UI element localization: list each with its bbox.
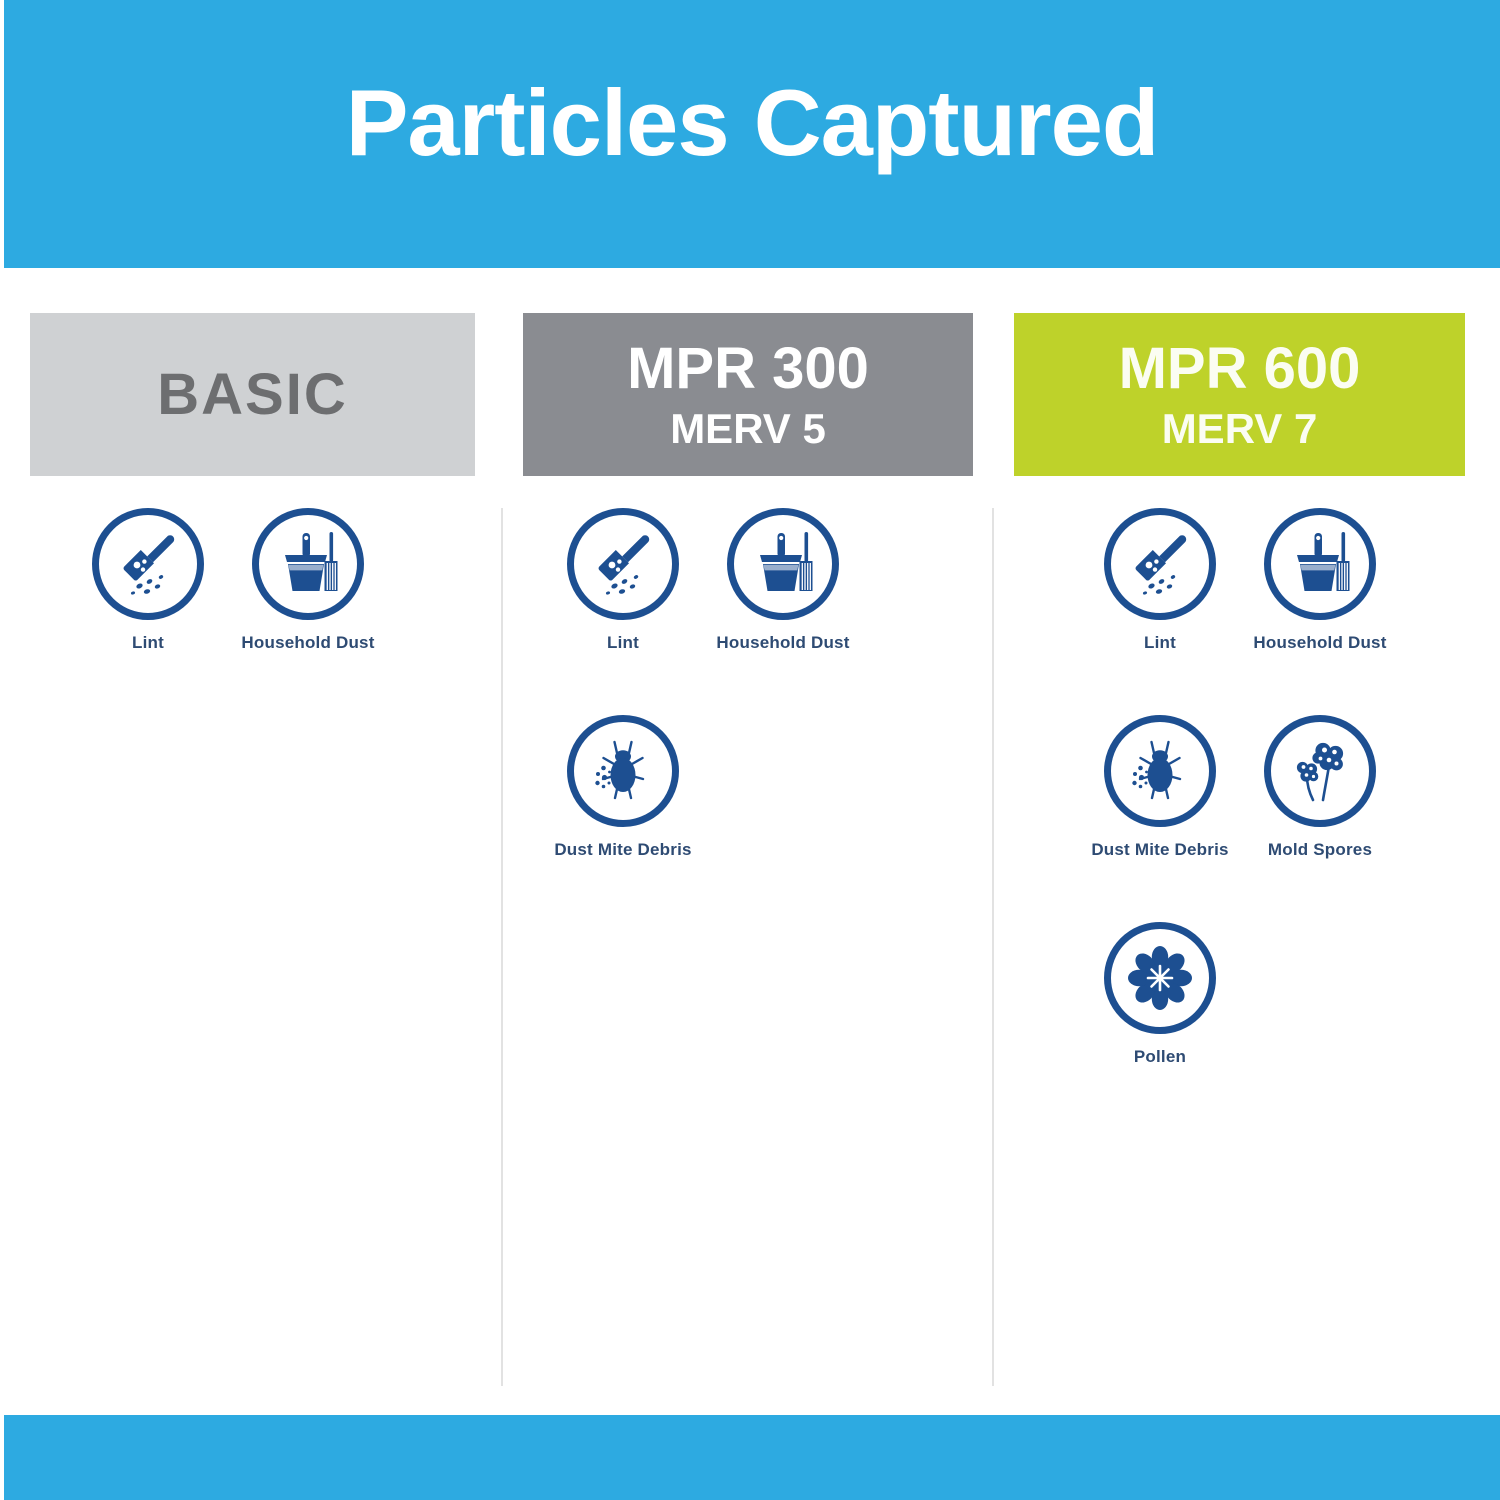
pollen-icon: [1104, 922, 1216, 1034]
lint-icon: [567, 508, 679, 620]
column-subtitle-mpr600: MERV 7: [1162, 408, 1318, 450]
particle-row: Dust Mite Debris: [523, 715, 973, 860]
column-header-mpr300: MPR 300 MERV 5: [523, 313, 973, 476]
particle-label: Lint: [1144, 633, 1176, 653]
column-header-mpr600: MPR 600 MERV 7: [1014, 313, 1465, 476]
particle-row: Lint: [30, 508, 475, 653]
dust-mite-icon: [1104, 715, 1216, 827]
column-title-mpr300: MPR 300: [627, 340, 869, 398]
particle-row: Lint: [523, 508, 973, 653]
particle-list-mpr300: Lint: [523, 508, 973, 860]
lint-icon: [92, 508, 204, 620]
particle-item-lint[interactable]: Lint: [543, 508, 703, 653]
column-header-basic: BASIC: [30, 313, 475, 476]
page-title: Particles Captured: [4, 76, 1500, 170]
particle-label: Lint: [132, 633, 164, 653]
lint-icon: [1104, 508, 1216, 620]
particle-label: Dust Mite Debris: [1091, 840, 1228, 860]
row-spacer: [523, 653, 973, 715]
particle-item-lint[interactable]: Lint: [68, 508, 228, 653]
particle-item-pollen[interactable]: Pollen: [1080, 922, 1240, 1067]
particle-item-lint[interactable]: Lint: [1080, 508, 1240, 653]
particle-row: Pollen: [1014, 922, 1465, 1067]
household-dust-icon: [1264, 508, 1376, 620]
household-dust-icon: [252, 508, 364, 620]
particle-list-basic: Lint: [30, 508, 475, 653]
particle-label: Pollen: [1134, 1047, 1186, 1067]
column-title-mpr600: MPR 600: [1119, 340, 1361, 398]
particle-row: Lint: [1014, 508, 1465, 653]
column-divider-1: [501, 508, 503, 1386]
top-brand-bar: Particles Captured: [4, 0, 1500, 268]
particle-item-household-dust[interactable]: Household Dust: [1240, 508, 1400, 653]
column-subtitle-mpr300: MERV 5: [670, 408, 826, 450]
household-dust-icon: [727, 508, 839, 620]
column-divider-2: [992, 508, 994, 1386]
particle-item-dust-mite-debris[interactable]: Dust Mite Debris: [543, 715, 703, 860]
mold-spores-icon: [1264, 715, 1376, 827]
row-spacer: [1014, 653, 1465, 715]
row-spacer: [1014, 860, 1465, 922]
column-title-basic: BASIC: [157, 366, 347, 424]
particle-item-household-dust[interactable]: Household Dust: [703, 508, 863, 653]
particle-list-mpr600: Lint: [1014, 508, 1465, 1067]
particle-label: Mold Spores: [1268, 840, 1372, 860]
dust-mite-icon: [567, 715, 679, 827]
particle-label: Household Dust: [716, 633, 849, 653]
particle-item-household-dust[interactable]: Household Dust: [228, 508, 388, 653]
particle-row: Dust Mite Debris: [1014, 715, 1465, 860]
particle-label: Household Dust: [1253, 633, 1386, 653]
particle-label: Dust Mite Debris: [554, 840, 691, 860]
particle-label: Household Dust: [241, 633, 374, 653]
particle-item-dust-mite-debris[interactable]: Dust Mite Debris: [1080, 715, 1240, 860]
particle-label: Lint: [607, 633, 639, 653]
particle-item-mold-spores[interactable]: Mold Spores: [1240, 715, 1400, 860]
bottom-brand-bar: [4, 1415, 1500, 1500]
